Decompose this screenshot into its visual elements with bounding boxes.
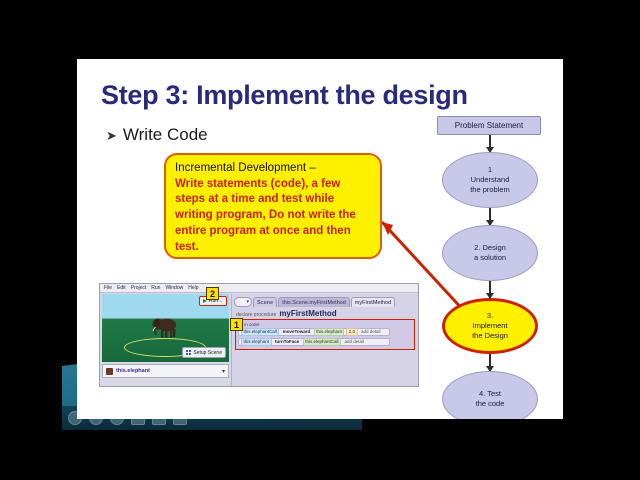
node-line-1: 3. <box>487 311 493 321</box>
code-add-detail-token[interactable]: add detail <box>360 329 383 335</box>
setup-scene-button[interactable]: Setup Scene <box>182 347 226 358</box>
page-title: Step 3: Implement the design <box>101 80 468 111</box>
code-method-token[interactable]: turnToFace <box>274 339 301 345</box>
callout-body: Write statements (code), a few steps at … <box>175 177 372 256</box>
flowchart-node-understand: 1 Understand the problem <box>442 152 538 208</box>
elephant-model-icon <box>150 314 180 342</box>
bullet-arrow-icon: ➤ <box>106 129 117 142</box>
node-line-1: 1 <box>488 165 492 175</box>
node-line-1: 4. Test <box>479 389 501 399</box>
flowchart-arrow-4 <box>489 354 491 371</box>
node-line-1: 2. Design <box>474 243 506 253</box>
step-badge-1: 1 <box>230 318 243 331</box>
flowchart-start-box: Problem Statement <box>437 116 541 135</box>
alice-code-pane: ▾ Scene this.Scene.myFirstMethod myFirst… <box>231 294 418 386</box>
chevron-down-icon[interactable]: ▾ <box>222 368 225 375</box>
flowchart-arrow-1 <box>489 135 491 152</box>
code-number-token[interactable]: 2.0 <box>346 328 357 336</box>
code-argument-token[interactable]: this.elephantCall <box>303 338 341 346</box>
chevron-down-icon: ▾ <box>246 299 249 305</box>
elephant-thumbnail-icon <box>106 368 113 375</box>
bullet-label: Write Code <box>123 125 208 145</box>
code-editor-panel[interactable]: do in order this.elephantCall moveToward… <box>235 319 415 350</box>
menu-run[interactable]: Run <box>151 285 160 291</box>
incremental-development-callout: Incremental Development – Write statemen… <box>164 153 382 259</box>
code-argument-token[interactable]: this.elephant <box>314 328 345 336</box>
bullet-write-code: ➤ Write Code <box>106 125 208 145</box>
step-badge-2: 2 <box>206 287 219 300</box>
node-line-2: the code <box>476 399 505 409</box>
node-line-2: Understand <box>471 175 510 185</box>
grid-icon <box>186 350 191 355</box>
alice-ide-screenshot: File Edit Project Run Window Help <box>99 283 419 387</box>
menu-project[interactable]: Project <box>131 285 147 291</box>
code-object-token[interactable]: this.elephantCall <box>241 328 279 336</box>
code-statement-row[interactable]: this.elephantCall moveToward this.elepha… <box>238 328 390 336</box>
node-line-3: the problem <box>470 185 510 195</box>
alice-menu-bar[interactable]: File Edit Project Run Window Help <box>100 284 419 293</box>
alice-editor-tabs[interactable]: ▾ Scene this.Scene.myFirstMethod myFirst… <box>234 296 395 307</box>
callout-heading: Incremental Development – <box>175 161 372 177</box>
menu-edit[interactable]: Edit <box>117 285 126 291</box>
tab-scene-myfirstmethod[interactable]: this.Scene.myFirstMethod <box>278 297 350 307</box>
design-process-flowchart: Problem Statement 1 Understand the probl… <box>417 109 563 419</box>
scene-selector-chip[interactable]: ▾ <box>234 297 252 307</box>
do-in-order-label: do in order <box>238 322 412 327</box>
code-object-token[interactable]: this.elephant <box>241 338 272 346</box>
object-tree-row[interactable]: this.elephant ▾ <box>102 364 229 378</box>
method-name-label: myFirstMethod <box>279 309 336 318</box>
flowchart-node-design: 2. Design a solution <box>442 225 538 281</box>
alice-scene-pane: Run... Setup Scene this.elephant ▾ <box>102 294 229 378</box>
code-statement-row[interactable]: this.elephant turnToFace this.elephantCa… <box>238 338 390 346</box>
menu-help[interactable]: Help <box>188 285 198 291</box>
method-header: declare procedure myFirstMethod <box>236 309 337 318</box>
menu-window[interactable]: Window <box>165 285 183 291</box>
node-line-2: Implement <box>472 321 507 331</box>
flowchart-node-test: 4. Test the code <box>442 371 538 419</box>
code-method-token[interactable]: moveToward <box>281 329 311 335</box>
object-tree-label: this.elephant <box>116 368 150 374</box>
screen-capture-frame: Step 3: Implement the design ➤ Write Cod… <box>0 0 640 480</box>
node-line-2: a solution <box>474 253 506 263</box>
menu-file[interactable]: File <box>104 285 112 291</box>
node-line-3: the Design <box>472 331 508 341</box>
setup-scene-label: Setup Scene <box>193 350 222 356</box>
tab-myfirstmethod[interactable]: myFirstMethod <box>351 297 395 307</box>
presentation-slide: Step 3: Implement the design ➤ Write Cod… <box>77 59 563 419</box>
tab-scene[interactable]: Scene <box>253 297 277 307</box>
code-add-detail-token[interactable]: add detail <box>343 339 366 345</box>
flowchart-arrow-3 <box>489 281 491 298</box>
flowchart-node-implement: 3. Implement the Design <box>442 298 538 354</box>
alice-3d-scene[interactable]: Run... Setup Scene <box>102 294 229 362</box>
flowchart-arrow-2 <box>489 208 491 225</box>
